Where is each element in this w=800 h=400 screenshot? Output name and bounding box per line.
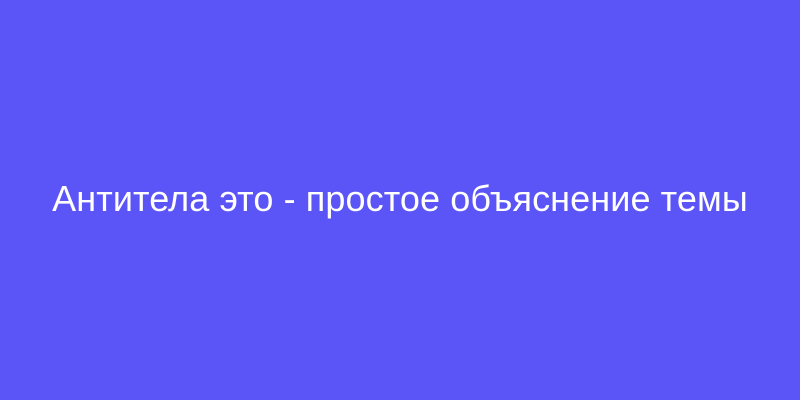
banner-title: Антитела это - простое объяснение темы: [52, 176, 748, 221]
title-banner: Антитела это - простое объяснение темы: [0, 0, 800, 400]
